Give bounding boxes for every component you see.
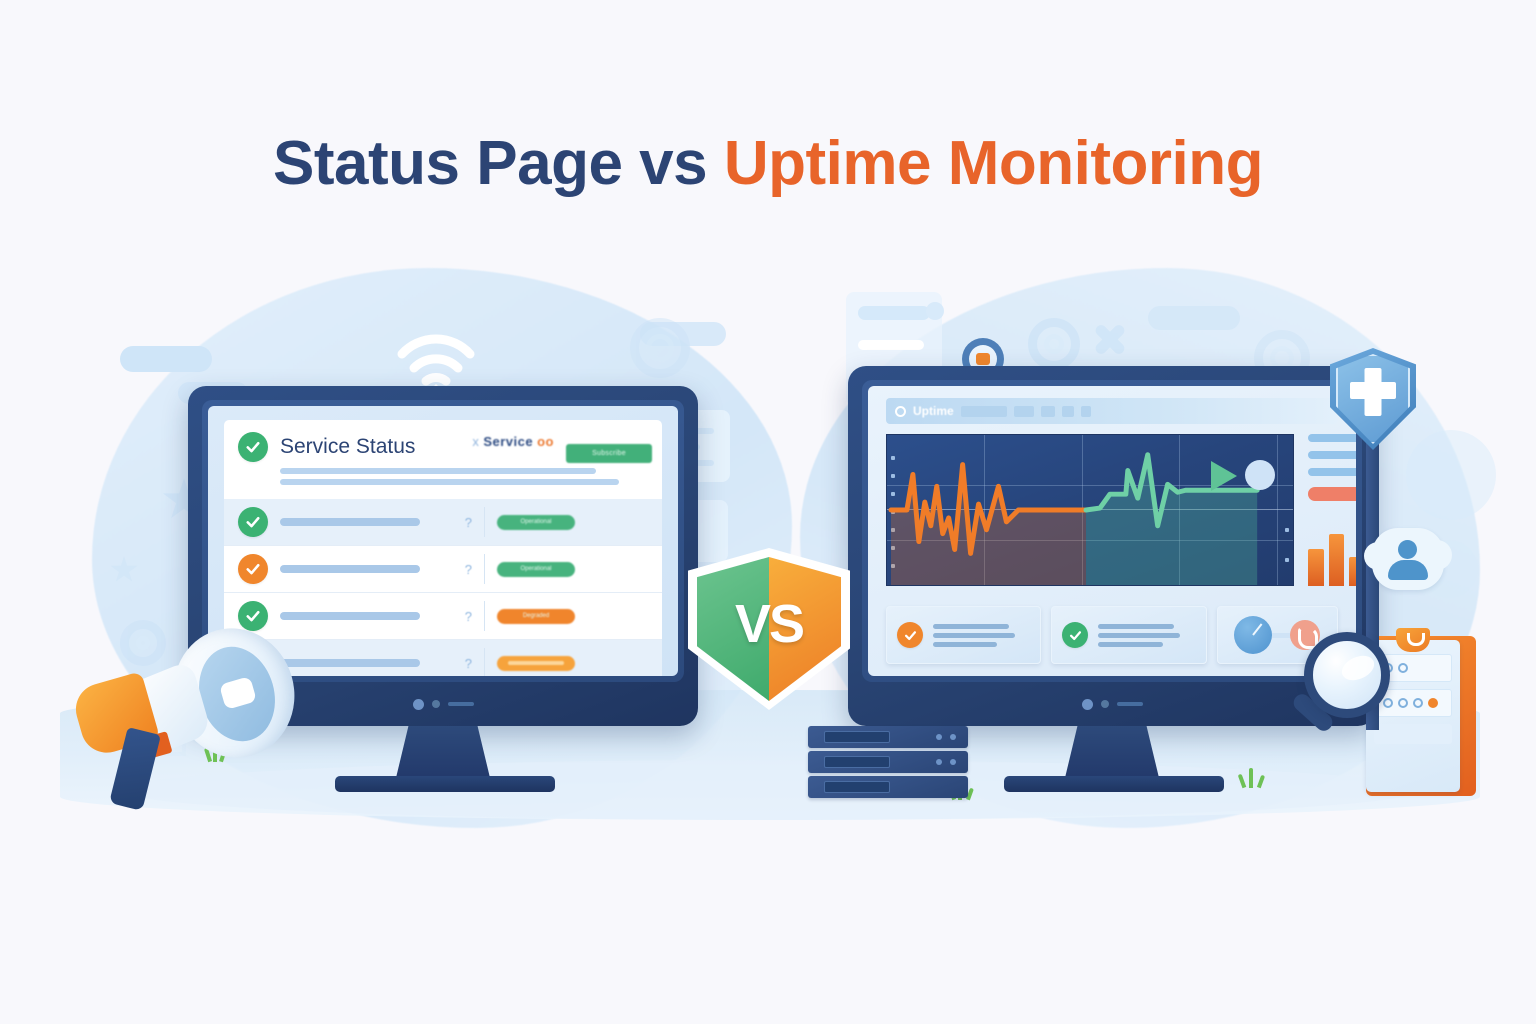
monitor-stand-neck	[395, 726, 491, 782]
toolbar-block	[1062, 406, 1074, 417]
brand-strip	[1117, 702, 1143, 706]
dashboard-toolbar[interactable]: Uptime	[886, 398, 1338, 424]
cloud-ornament	[120, 346, 212, 372]
divider	[484, 601, 485, 631]
magnifier-lens	[1304, 632, 1390, 718]
play-triangle-icon	[1211, 461, 1237, 491]
row-value: ?	[432, 562, 472, 577]
indicator-led-icon	[1101, 700, 1109, 708]
server-unit	[808, 726, 968, 748]
row-value: ?	[432, 656, 472, 671]
server-unit	[808, 776, 968, 798]
monitor-stand-base	[335, 776, 555, 792]
brand-name: Service	[483, 434, 533, 449]
circle-outline-icon	[895, 406, 906, 417]
monitor-inner-frame: Uptime	[862, 380, 1362, 682]
shield-cross-icon	[1330, 348, 1416, 450]
close-x-ornament	[1092, 318, 1128, 354]
server-stack-icon	[808, 726, 968, 801]
dashboard-title: Uptime	[913, 404, 954, 418]
uptime-monitoring-screen[interactable]: Uptime	[868, 386, 1356, 676]
gear-ornament	[1028, 318, 1080, 370]
status-card[interactable]	[886, 606, 1041, 664]
subscribe-button[interactable]: Subscribe	[566, 444, 652, 463]
status-cards	[886, 606, 1338, 664]
page-title: Status Page vs Uptime Monitoring	[0, 128, 1536, 199]
indicator-led-icon	[432, 700, 440, 708]
line-ornament	[858, 340, 924, 350]
incident-bar-chart[interactable]	[1308, 514, 1356, 586]
response-time-chart[interactable]	[886, 434, 1294, 586]
line-ornament	[858, 306, 930, 320]
connector-line	[1272, 633, 1290, 638]
gauge-icon	[1234, 616, 1272, 654]
service-name-placeholder	[280, 518, 420, 526]
status-badge	[497, 656, 575, 671]
vs-shield-badge: VS	[688, 548, 850, 710]
gear-ornament	[630, 318, 690, 378]
page-title-right: Uptime Monitoring	[724, 129, 1263, 198]
toolbar-block	[961, 406, 1007, 417]
support-agent-icon	[1372, 528, 1444, 590]
check-circle-icon	[238, 507, 268, 537]
check-circle-icon	[238, 432, 268, 462]
service-name-placeholder	[280, 565, 420, 573]
megaphone-icon	[62, 618, 332, 818]
power-led-icon	[1082, 699, 1093, 710]
power-led-icon	[413, 699, 424, 710]
toolbar-block	[1014, 406, 1034, 417]
bar	[1329, 534, 1345, 586]
check-circle-icon	[1062, 622, 1088, 648]
chart-series-layer	[887, 435, 1293, 585]
divider	[484, 554, 485, 584]
bar	[1349, 557, 1356, 586]
alert-row	[1308, 485, 1356, 503]
check-circle-icon	[238, 554, 268, 584]
wifi-icon	[394, 332, 478, 394]
vs-label: VS	[688, 548, 850, 710]
cloud-ornament	[1148, 306, 1240, 330]
row-value: ?	[432, 609, 472, 624]
card-text-lines	[933, 620, 1030, 651]
brand-strip	[448, 702, 474, 706]
status-badge: Degraded	[497, 609, 575, 624]
status-badge: Operational	[497, 515, 575, 530]
server-unit	[808, 751, 968, 773]
toolbar-block	[1041, 406, 1055, 417]
monitor-stand-neck	[1064, 726, 1160, 782]
row-value: ?	[432, 515, 472, 530]
table-row[interactable]: ? Operational	[224, 499, 662, 546]
status-card[interactable]	[1051, 606, 1206, 664]
grass-tuft	[1238, 768, 1268, 788]
header-placeholder-lines	[280, 468, 648, 485]
toolbar-block	[1081, 406, 1091, 417]
check-circle-icon	[897, 622, 923, 648]
alert-badge	[1308, 487, 1356, 501]
brand-logo: x Service oo	[472, 434, 554, 449]
page-title-left: Status Page vs	[273, 129, 724, 198]
table-row[interactable]: ? Operational	[224, 546, 662, 593]
status-page-header: Service Status x Service oo Subscribe	[224, 420, 662, 499]
status-badge: Operational	[497, 562, 575, 577]
dot-ornament	[1406, 430, 1496, 520]
text-line-placeholder	[1308, 451, 1356, 459]
divider	[484, 648, 485, 676]
circle-marker-icon	[1245, 460, 1275, 490]
brand-dots: oo	[537, 434, 554, 449]
monitor-stand-base	[1004, 776, 1224, 792]
illustration-canvas: Status Page vs Uptime Monitoring	[0, 0, 1536, 1024]
bar	[1308, 549, 1324, 586]
text-line-placeholder	[1308, 468, 1356, 476]
brand-x: x	[472, 434, 479, 449]
lens-glare	[1338, 651, 1378, 685]
divider	[484, 507, 485, 537]
dot-ornament	[926, 302, 944, 320]
magnifying-glass-icon	[1294, 632, 1406, 752]
card-text-lines	[1098, 620, 1195, 651]
